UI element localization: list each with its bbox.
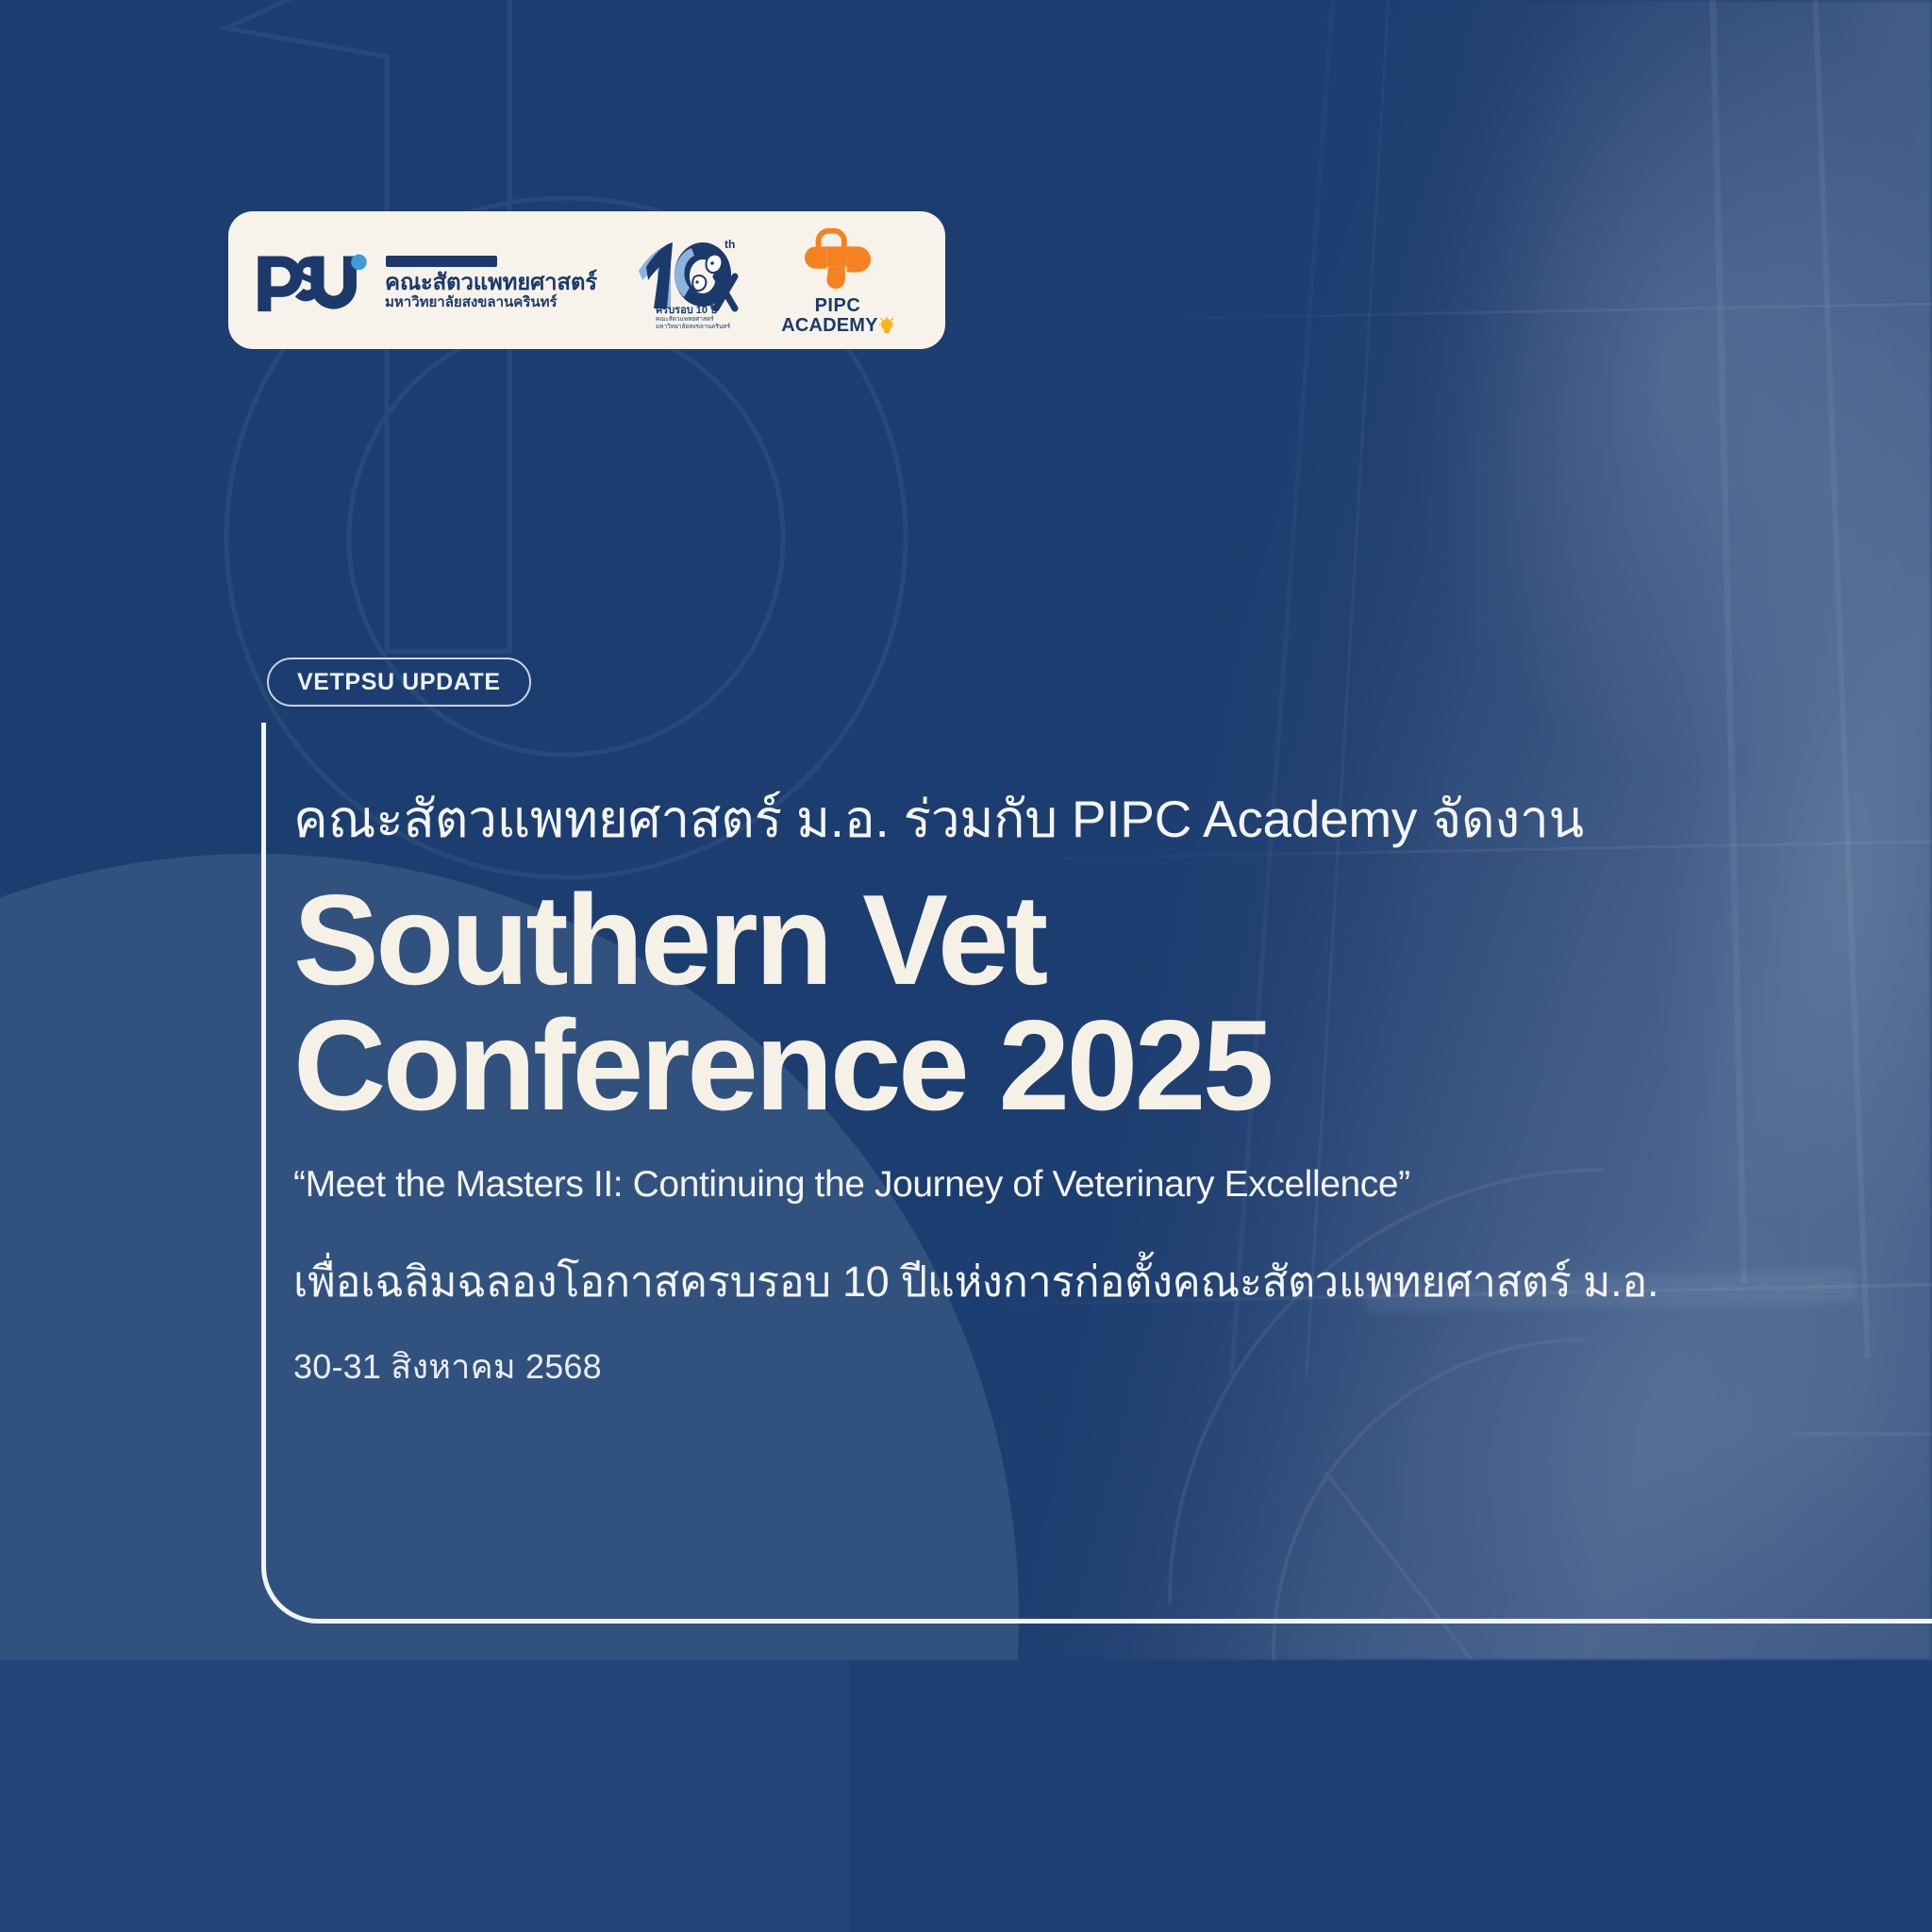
pipc-line1-label: PIPC: [815, 296, 861, 316]
theme-quote: “Meet the Masters II: Continuing the Jou…: [293, 1164, 1932, 1206]
title-line-1: Southern Vet: [293, 868, 1045, 1011]
psu-logo-lockup: คณะสัตวแพทยศาสตร์ มหาวิทยาลัยสงขลานครินท…: [253, 245, 597, 315]
thai-subtitle: เพื่อเฉลิมฉลองโอกาสครบรอบ 10 ปีแห่งการก่…: [293, 1247, 1932, 1315]
anniversary-caption-line2: คณะสัตวแพทยศาสตร์: [656, 316, 730, 324]
pipc-line2-label: ACADEMY: [781, 316, 878, 336]
psu-wordmark-icon: [253, 245, 374, 315]
anniversary-10th-logo: th ครบรอบ 10 ปี คณะสัตวแพทยศาสตร์ มหาวิท…: [629, 227, 742, 333]
anniversary-caption: ครบรอบ 10 ปี คณะสัตวแพทยศาสตร์ มหาวิทยาล…: [656, 305, 730, 331]
status-badge: VETPSU UPDATE: [267, 658, 531, 707]
title-line-2: Conference 2025: [293, 1003, 1932, 1128]
svg-text:th: th: [724, 238, 735, 251]
pipc-cross-icon: [801, 225, 874, 292]
event-date: 30-31 สิงหาคม 2568: [293, 1340, 1932, 1393]
psu-text-block: คณะสัตวแพทยศาสตร์ มหาวิทยาลัยสงขลานครินท…: [385, 250, 597, 310]
lightbulb-icon: [879, 317, 894, 336]
psu-university-label: มหาวิทยาลัยสงขลานครินทร์: [385, 294, 597, 310]
kicker-line: คณะสัตวแพทยศาสตร์ ม.อ. ร่วมกับ PIPC Acad…: [293, 791, 1932, 849]
anniversary-caption-line1: ครบรอบ 10 ปี: [656, 305, 730, 316]
pipc-academy-logo: PIPC ACADEMY: [782, 224, 893, 337]
logo-bar: คณะสัตวแพทยศาสตร์ มหาวิทยาลัยสงขลานครินท…: [228, 211, 945, 349]
anniversary-caption-line3: มหาวิทยาลัยสงขลานครินทร์: [656, 324, 730, 331]
pipc-line2-row: ACADEMY: [781, 316, 894, 336]
poster-text-block: คณะสัตวแพทยศาสตร์ ม.อ. ร่วมกับ PIPC Acad…: [293, 791, 1932, 1393]
psu-rule-bar: [386, 256, 497, 267]
page-title: Southern Vet Conference 2025: [293, 877, 1932, 1129]
bottom-band-left: [0, 1660, 849, 1932]
poster-canvas: คณะสัตวแพทยศาสตร์ มหาวิทยาลัยสงขลานครินท…: [0, 0, 1932, 1932]
psu-faculty-label: คณะสัตวแพทยศาสตร์: [385, 271, 597, 294]
